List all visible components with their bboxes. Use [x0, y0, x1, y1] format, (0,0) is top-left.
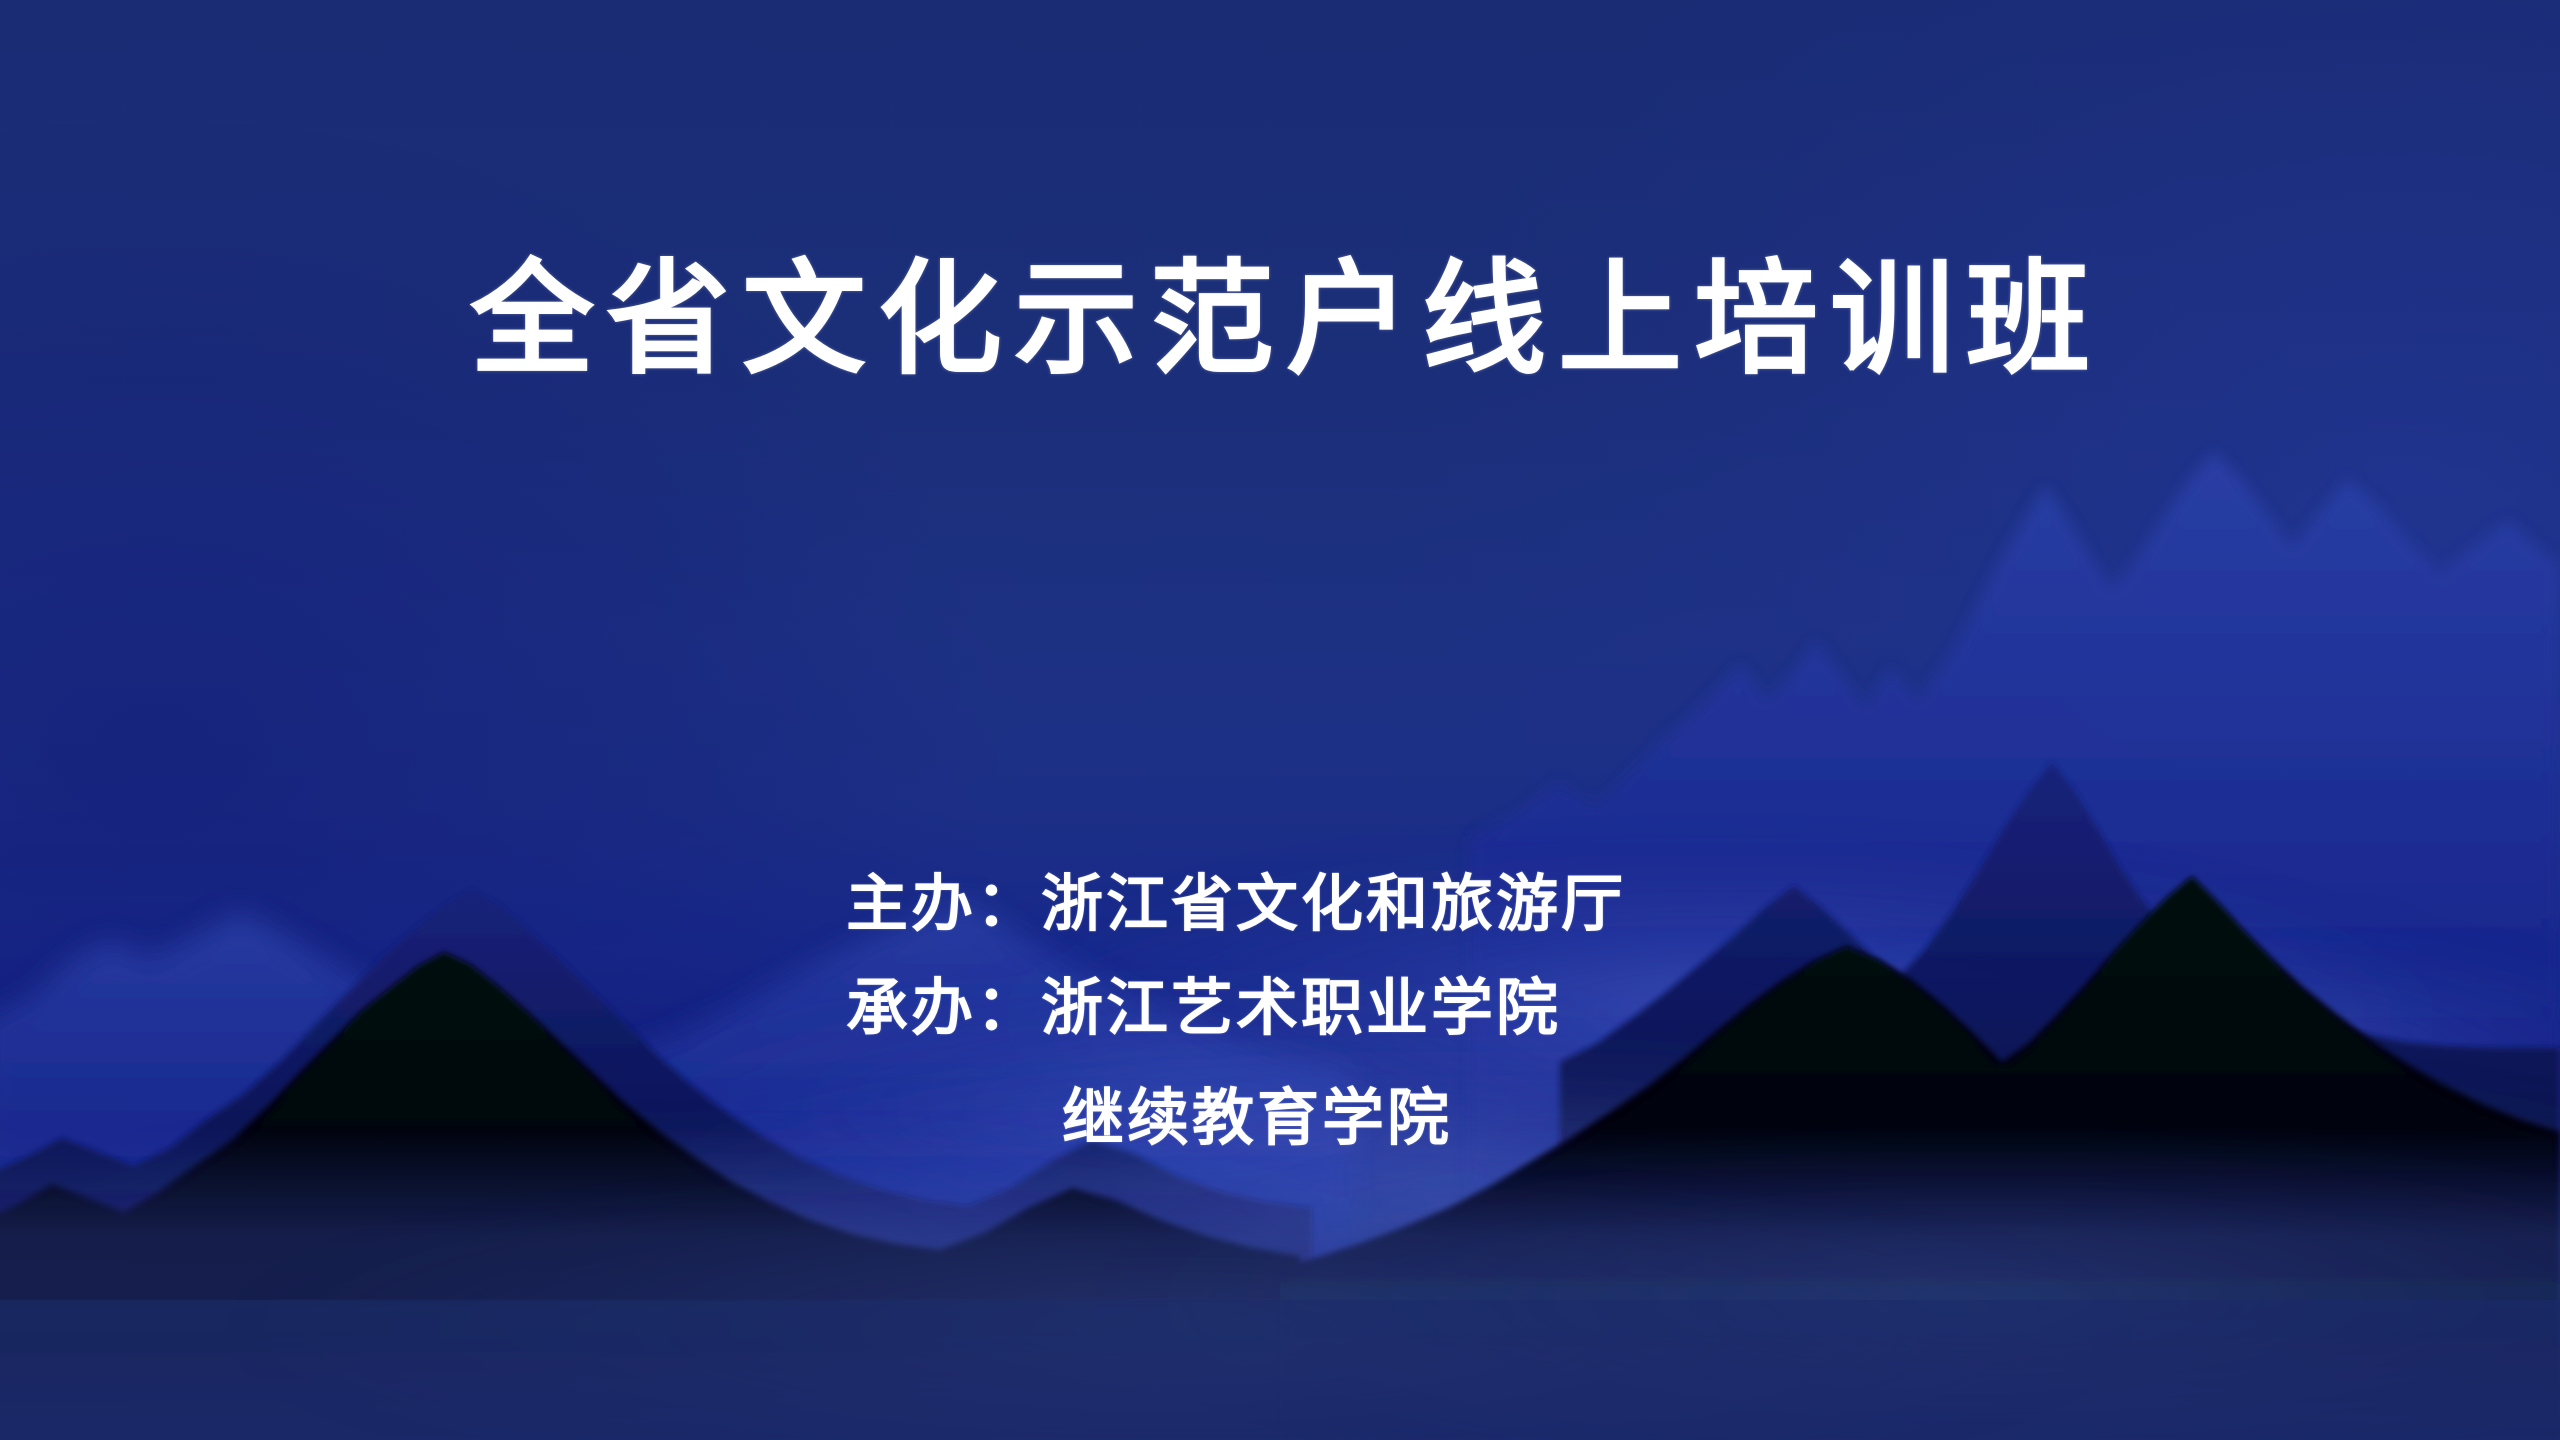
- subtitle-block: 主办：浙江省文化和旅游厅 承办：浙江艺术职业学院 继续教育学院: [846, 852, 1626, 1170]
- host-line: 承办：浙江艺术职业学院: [846, 956, 1626, 1060]
- host-line-continued: 继续教育学院: [846, 1066, 1626, 1170]
- mountain-landscape-artwork: [0, 0, 2560, 1440]
- title-slide: 全省文化示范户线上培训班 主办：浙江省文化和旅游厅 承办：浙江艺术职业学院 继续…: [0, 0, 2560, 1440]
- page-title: 全省文化示范户线上培训班: [0, 258, 2560, 382]
- organizer-line: 主办：浙江省文化和旅游厅: [846, 852, 1626, 956]
- bottom-darken: [0, 1300, 2560, 1440]
